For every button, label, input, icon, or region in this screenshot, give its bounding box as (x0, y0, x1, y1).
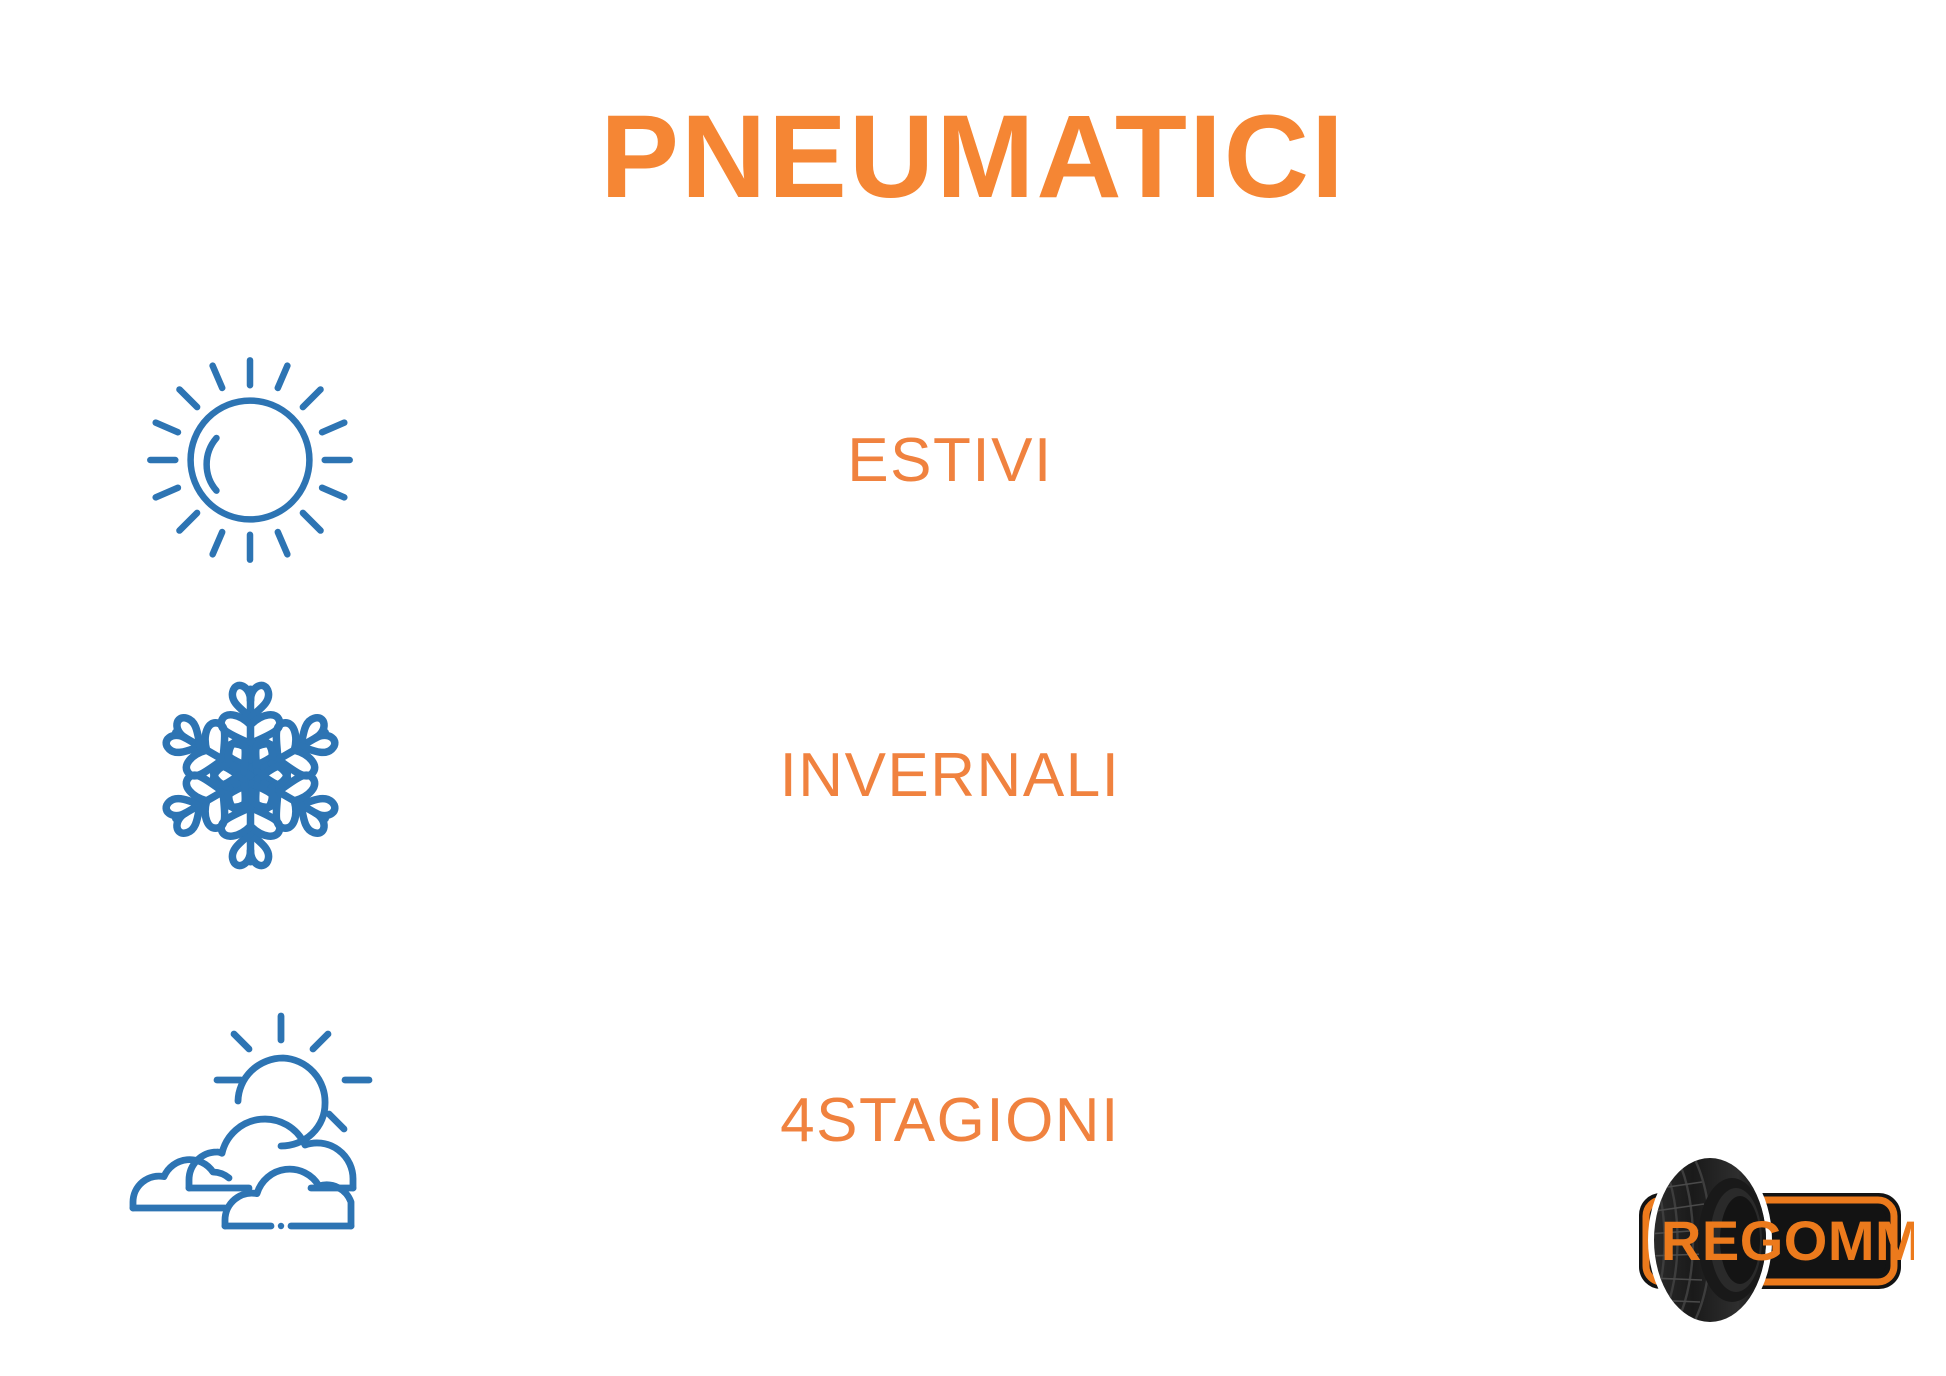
regomma-logo: REGOMMA (1624, 1142, 1914, 1338)
page-title: PNEUMATICI (0, 96, 1946, 220)
row-4stagioni: 4STAGIONI (0, 1000, 1400, 1240)
sun-icon (0, 340, 500, 580)
row-label-4stagioni: 4STAGIONI (500, 1085, 1400, 1156)
row-label-estivi: ESTIVI (500, 425, 1400, 496)
snowflake-icon (0, 655, 500, 895)
row-estivi: ESTIVI (0, 340, 1400, 580)
row-invernali: INVERNALI (0, 655, 1400, 895)
sun-behind-clouds-icon (0, 1000, 500, 1240)
logo-wordmark: REGOMMA (1661, 1209, 1914, 1272)
row-label-invernali: INVERNALI (500, 740, 1400, 811)
